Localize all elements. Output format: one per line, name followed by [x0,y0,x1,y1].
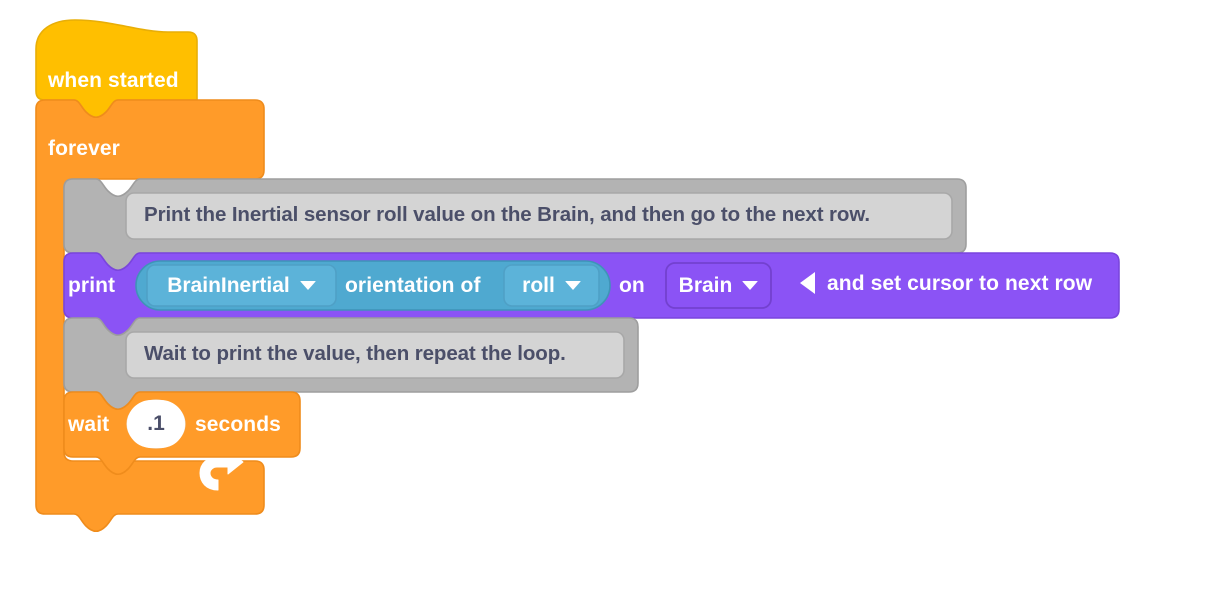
wait-value-input[interactable]: .1 [127,400,185,448]
triangle-left-icon [800,272,815,294]
chevron-down-icon [565,281,581,290]
chevron-down-icon [300,281,316,290]
next-row-label: and set cursor to next row [827,273,1092,294]
print-label: print [68,272,115,298]
comment-1-text: Print the Inertial sensor roll value on … [144,203,870,227]
when-started-label: when started [48,67,179,93]
axis-dropdown[interactable]: roll [504,265,599,306]
print-on-label: on [619,272,645,298]
wait-label: wait [68,411,109,437]
chevron-down-icon [742,281,758,290]
comment-2-text: Wait to print the value, then repeat the… [144,342,566,366]
wait-units-label: seconds [195,411,281,437]
orientation-of-label: orientation of [345,272,481,298]
next-row-indicator[interactable]: and set cursor to next row [800,272,1092,294]
device-dropdown-label: Brain [679,275,733,296]
sensor-dropdown-label: BrainInertial [167,275,290,296]
sensor-dropdown[interactable]: BrainInertial [147,265,336,306]
wait-value-text: .1 [147,412,165,436]
axis-dropdown-label: roll [522,275,555,296]
block-workspace[interactable]: when started forever Print the Inertial … [0,0,1210,602]
device-dropdown[interactable]: Brain [666,263,771,308]
forever-label: forever [48,135,120,161]
